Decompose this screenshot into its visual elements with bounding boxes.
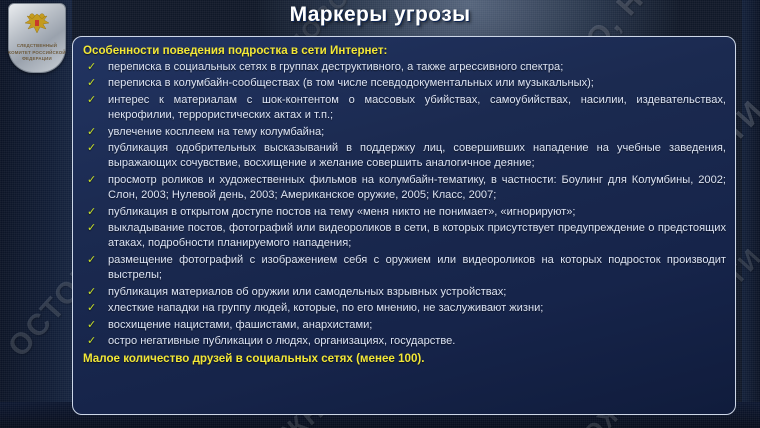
background-right-band [742,0,760,428]
checkmark-icon: ✓ [87,60,96,75]
list-item-label: просмотр роликов и художественных фильмо… [108,174,726,201]
checkmark-icon: ✓ [87,318,96,333]
list-item: ✓публикация одобрительных высказываний в… [81,141,726,172]
checkmark-icon: ✓ [87,173,96,188]
presentation-slide: ОСТОРОЖНО, НОВОСТИ ОСТОРОЖНО, НОВОСТИ ОС… [0,0,760,428]
list-item-label: хлесткие нападки на группу людей, которы… [108,302,543,314]
list-item: ✓восхищение нацистами, фашистами, анархи… [81,318,726,333]
checkmark-icon: ✓ [87,334,96,349]
checkmark-icon: ✓ [87,141,96,156]
list-item-label: интерес к материалам с шок-контентом о м… [108,94,726,121]
checkmark-icon: ✓ [87,253,96,268]
list-item: ✓публикация в открытом доступе постов на… [81,205,726,220]
panel-footer-note: Малое количество друзей в социальных сет… [83,351,726,367]
panel-heading: Особенности поведения подростка в сети И… [83,43,726,58]
list-item-label: переписка в социальных сетях в группах д… [108,61,563,73]
checkmark-icon: ✓ [87,285,96,300]
checkmark-icon: ✓ [87,301,96,316]
list-item: ✓размещение фотографий с изображением се… [81,253,726,284]
list-item: ✓хлесткие нападки на группу людей, котор… [81,301,726,316]
emblem-caption: СЛЕДСТВЕННЫЙ КОМИТЕТ РОССИЙСКОЙ ФЕДЕРАЦИ… [8,43,66,63]
list-item-label: остро негативные публикации о людях, орг… [108,335,455,347]
list-item-label: публикация одобрительных высказываний в … [108,142,726,169]
list-item: ✓переписка в колумбайн-сообществах (в то… [81,76,726,91]
checkmark-icon: ✓ [87,205,96,220]
list-item-label: выкладывание постов, фотографий или виде… [108,222,726,249]
list-item: ✓интерес к материалам с шок-контентом о … [81,93,726,124]
checkmark-icon: ✓ [87,93,96,108]
list-item-label: публикация в открытом доступе постов на … [108,206,576,218]
list-item: ✓переписка в социальных сетях в группах … [81,60,726,75]
list-item: ✓остро негативные публикации о людях, ор… [81,334,726,349]
list-item: ✓просмотр роликов и художественных фильм… [81,173,726,204]
list-item-label: восхищение нацистами, фашистами, анархис… [108,319,372,331]
content-panel: Особенности поведения подростка в сети И… [72,36,736,415]
page-title: Маркеры угрозы [0,3,760,27]
list-item: ✓увлечение косплеем на тему колумбайна; [81,125,726,140]
checkmark-icon: ✓ [87,221,96,236]
checkmark-icon: ✓ [87,76,96,91]
list-item-label: публикация материалов об оружии или само… [108,286,506,298]
marker-list: ✓переписка в социальных сетях в группах … [81,60,726,349]
checkmark-icon: ✓ [87,125,96,140]
list-item-label: увлечение косплеем на тему колумбайна; [108,126,324,138]
list-item-label: размещение фотографий с изображением себ… [108,254,726,281]
list-item-label: переписка в колумбайн-сообществах (в том… [108,77,594,89]
list-item: ✓публикация материалов об оружии или сам… [81,285,726,300]
list-item: ✓выкладывание постов, фотографий или вид… [81,221,726,252]
